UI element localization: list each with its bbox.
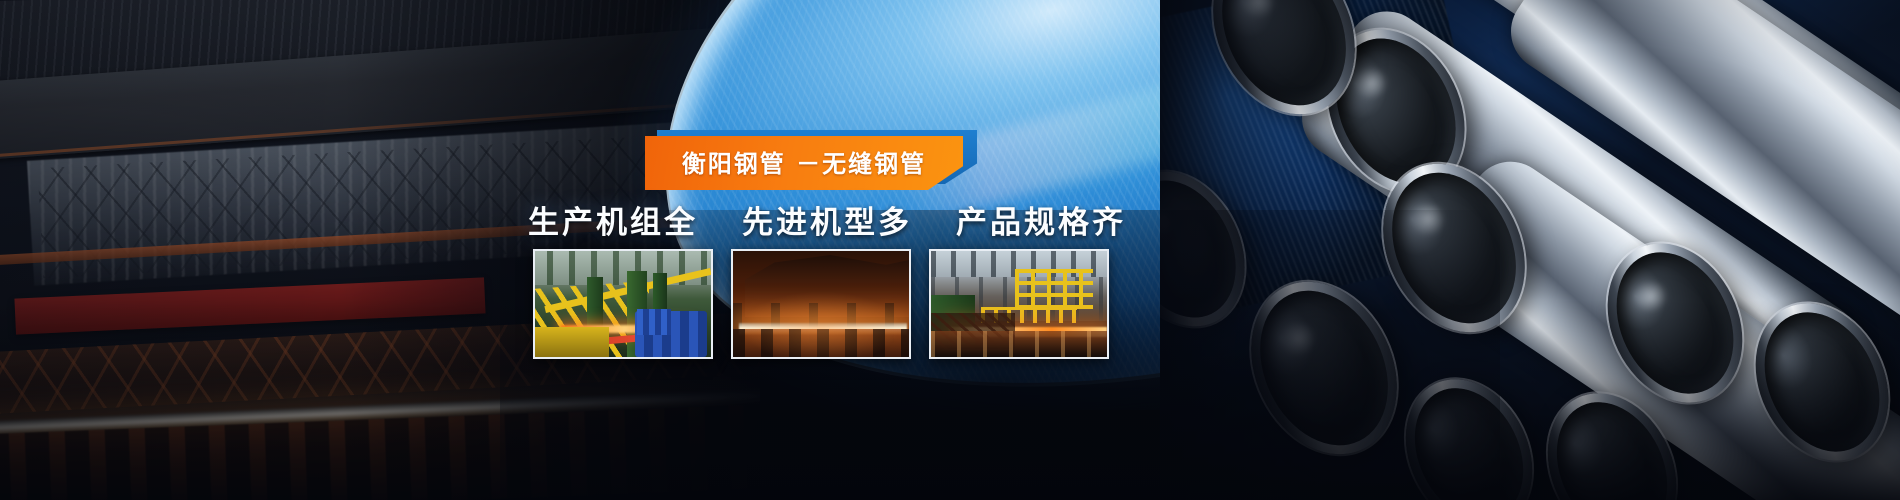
thumbnail-hot-rolling-billet[interactable]: [731, 249, 911, 359]
thumbnail-rolling-mill-line[interactable]: [533, 249, 713, 359]
thumbnail-steel-mill-hall[interactable]: [929, 249, 1109, 359]
headline-item-3: 产品规格齐: [956, 197, 1126, 242]
thumbnail-image-1: [535, 251, 711, 357]
brand-badge: 衡阳钢管 －无缝钢管: [645, 130, 985, 190]
heat-glow: [733, 251, 909, 357]
thumbnail-image-2: [733, 251, 909, 357]
mill-yellow-base: [535, 327, 609, 357]
thumbnail-row: [533, 249, 1109, 359]
cooling-bed: [931, 331, 1107, 357]
thumbnail-image-3: [931, 251, 1107, 357]
hero-banner: 衡阳钢管 －无缝钢管 生产机组全 先进机型多 产品规格齐: [0, 0, 1900, 500]
headline-item-1: 生产机组全: [528, 197, 698, 242]
banner-content: 衡阳钢管 －无缝钢管 生产机组全 先进机型多 产品规格齐: [0, 0, 1900, 500]
yellow-platform: [1015, 269, 1093, 309]
badge-label: 衡阳钢管 －无缝钢管: [682, 144, 926, 182]
headline-item-2: 先进机型多: [742, 197, 912, 242]
mill-blue-motors: [637, 309, 671, 335]
badge-orange-tag: 衡阳钢管 －无缝钢管: [645, 136, 963, 190]
headline-row: 生产机组全 先进机型多 产品规格齐: [528, 196, 1148, 242]
